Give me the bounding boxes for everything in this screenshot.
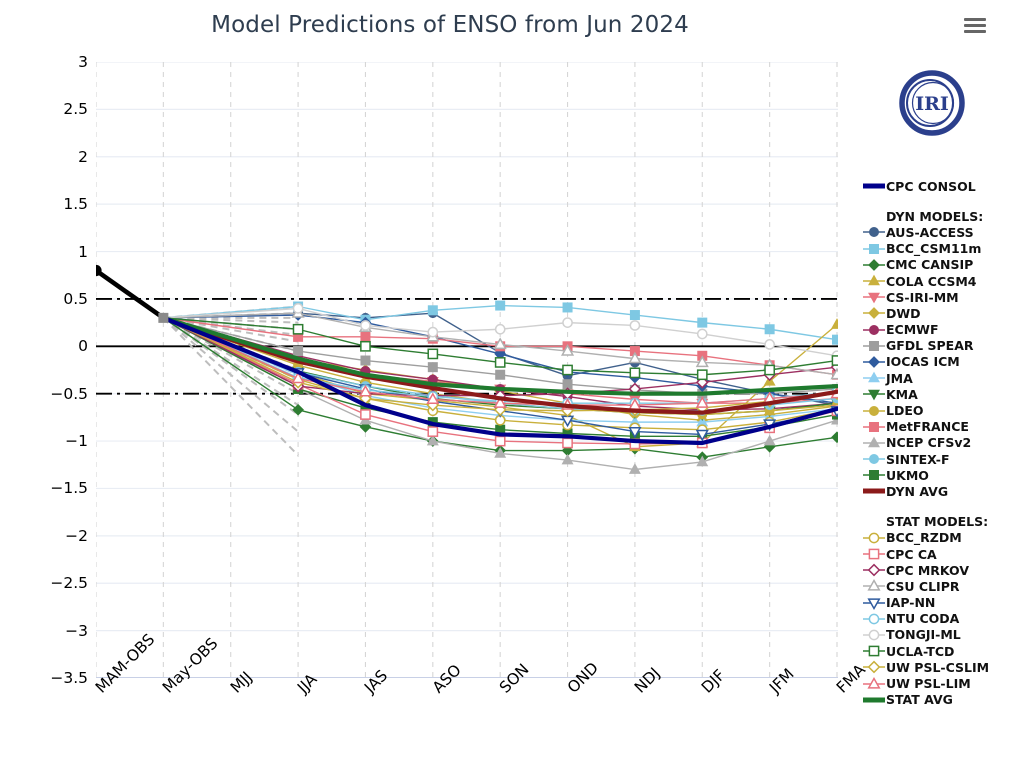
- legend-marker-icon: [862, 627, 886, 643]
- legend-item-label: CSU CLIPR: [886, 579, 960, 594]
- legend-group-header-stat: STAT MODELS:: [862, 514, 1024, 530]
- legend-item-tongji-ml[interactable]: TONGJI-ML: [862, 627, 1024, 643]
- legend-group-header-dyn: DYN MODELS:: [862, 208, 1024, 224]
- x-axis-tick-label: MAM-OBS: [92, 630, 158, 696]
- legend-marker-icon: [862, 305, 886, 321]
- legend-marker-icon: [862, 419, 886, 435]
- legend-item-jma[interactable]: JMA: [862, 370, 1024, 386]
- legend-marker-icon: [862, 483, 886, 499]
- legend-item-label: CMC CANSIP: [886, 257, 973, 272]
- legend-marker-icon: [862, 578, 886, 594]
- legend-item-label: IAP-NN: [886, 595, 935, 610]
- legend-marker-icon: [862, 338, 886, 354]
- legend-item-ldeo[interactable]: LDEO: [862, 402, 1024, 418]
- legend-marker-icon: [862, 241, 886, 257]
- legend-item-label: IOCAS ICM: [886, 354, 960, 369]
- chart-legend: CPC CONSOLDYN MODELS:AUS-ACCESSBCC_CSM11…: [862, 178, 1024, 708]
- legend-spacer: [862, 194, 1024, 208]
- legend-item-label: CPC MRKOV: [886, 563, 969, 578]
- legend-item-label: DWD: [886, 306, 921, 321]
- legend-item-label: NTU CODA: [886, 611, 959, 626]
- legend-marker-icon: [862, 643, 886, 659]
- x-axis-tick-label: NDJ: [631, 664, 664, 697]
- legend-item-label: UKMO: [886, 468, 929, 483]
- legend-marker-icon: [862, 676, 886, 692]
- legend-marker-icon: [862, 403, 886, 419]
- legend-item-metfrance[interactable]: MetFRANCE: [862, 419, 1024, 435]
- x-axis-tick-label: JFM: [766, 665, 798, 697]
- legend-item-label: MetFRANCE: [886, 419, 969, 434]
- legend-item-label: STAT AVG: [886, 692, 953, 707]
- legend-marker-icon: [862, 659, 886, 675]
- legend-item-label: CPC CONSOL: [886, 179, 976, 194]
- legend-item-label: GFDL SPEAR: [886, 338, 974, 353]
- legend-marker-icon: [862, 257, 886, 273]
- x-axis-tick-label: ASO: [429, 661, 465, 697]
- x-axis-tick-label: SON: [496, 660, 533, 697]
- legend-item-bcc-rzdm[interactable]: BCC_RZDM: [862, 530, 1024, 546]
- legend-item-uw-psl-lim[interactable]: UW PSL-LIM: [862, 675, 1024, 691]
- legend-marker-icon: [862, 595, 886, 611]
- legend-item-cpc-consol[interactable]: CPC CONSOL: [862, 178, 1024, 194]
- legend-marker-icon: [862, 435, 886, 451]
- x-axis-tick-label: OND: [564, 659, 602, 697]
- x-axis-tick-label: JAS: [361, 666, 391, 696]
- legend-item-label: SINTEX-F: [886, 452, 950, 467]
- legend-item-label: UW PSL-CSLIM: [886, 660, 989, 675]
- legend-spacer: [862, 500, 1024, 514]
- legend-item-aus-access[interactable]: AUS-ACCESS: [862, 224, 1024, 240]
- legend-item-kma[interactable]: KMA: [862, 386, 1024, 402]
- legend-item-cpc-mrkov[interactable]: CPC MRKOV: [862, 562, 1024, 578]
- legend-item-stat-avg[interactable]: STAT AVG: [862, 692, 1024, 708]
- legend-marker-icon: [862, 370, 886, 386]
- legend-item-label: NCEP CFSv2: [886, 435, 971, 450]
- legend-marker-icon: [862, 562, 886, 578]
- legend-item-ntu-coda[interactable]: NTU CODA: [862, 611, 1024, 627]
- legend-marker-icon: [862, 386, 886, 402]
- legend-item-label: JMA: [886, 371, 913, 386]
- legend-item-uw-psl-cslim[interactable]: UW PSL-CSLIM: [862, 659, 1024, 675]
- legend-marker-icon: [862, 530, 886, 546]
- legend-item-ecmwf[interactable]: ECMWF: [862, 322, 1024, 338]
- legend-marker-icon: [862, 611, 886, 627]
- legend-item-label: UCLA-TCD: [886, 644, 954, 659]
- legend-item-ukmo[interactable]: UKMO: [862, 467, 1024, 483]
- x-axis-tick-label: May-OBS: [159, 634, 221, 696]
- legend-marker-icon: [862, 273, 886, 289]
- legend-marker-icon: [862, 546, 886, 562]
- legend-marker-icon: [862, 692, 886, 708]
- legend-marker-icon: [862, 322, 886, 338]
- legend-item-gfdl-spear[interactable]: GFDL SPEAR: [862, 338, 1024, 354]
- legend-item-ncep-cfsv2[interactable]: NCEP CFSv2: [862, 435, 1024, 451]
- legend-marker-icon: [862, 224, 886, 240]
- legend-marker-icon: [862, 289, 886, 305]
- legend-item-bcc-csm11m[interactable]: BCC_CSM11m: [862, 241, 1024, 257]
- legend-item-cola-ccsm4[interactable]: COLA CCSM4: [862, 273, 1024, 289]
- x-axis-tick-label: JJA: [294, 670, 321, 697]
- legend-item-label: ECMWF: [886, 322, 938, 337]
- legend-item-label: BCC_CSM11m: [886, 241, 981, 256]
- legend-item-cs-iri-mm[interactable]: CS-IRI-MM: [862, 289, 1024, 305]
- legend-item-label: CS-IRI-MM: [886, 290, 959, 305]
- legend-item-csu-clipr[interactable]: CSU CLIPR: [862, 578, 1024, 594]
- legend-item-dwd[interactable]: DWD: [862, 305, 1024, 321]
- legend-marker-icon: [862, 467, 886, 483]
- x-axis-tick-label: DJF: [698, 666, 729, 697]
- legend-item-label: COLA CCSM4: [886, 274, 977, 289]
- legend-item-label: KMA: [886, 387, 918, 402]
- legend-item-label: LDEO: [886, 403, 924, 418]
- legend-item-iap-nn[interactable]: IAP-NN: [862, 595, 1024, 611]
- legend-item-dyn-avg[interactable]: DYN AVG: [862, 483, 1024, 499]
- x-axis-tick-label: MJJ: [227, 668, 256, 697]
- legend-marker-icon: [862, 354, 886, 370]
- legend-item-label: DYN AVG: [886, 484, 948, 499]
- legend-item-label: UW PSL-LIM: [886, 676, 971, 691]
- legend-item-label: BCC_RZDM: [886, 530, 962, 545]
- legend-item-iocas-icm[interactable]: IOCAS ICM: [862, 354, 1024, 370]
- legend-item-cpc-ca[interactable]: CPC CA: [862, 546, 1024, 562]
- legend-marker-icon: [862, 178, 886, 194]
- legend-item-label: CPC CA: [886, 547, 937, 562]
- legend-item-sintex-f[interactable]: SINTEX-F: [862, 451, 1024, 467]
- legend-item-label: AUS-ACCESS: [886, 225, 974, 240]
- legend-marker-icon: [862, 451, 886, 467]
- legend-item-ucla-tcd[interactable]: UCLA-TCD: [862, 643, 1024, 659]
- legend-item-cmc-cansip[interactable]: CMC CANSIP: [862, 257, 1024, 273]
- legend-item-label: TONGJI-ML: [886, 627, 961, 642]
